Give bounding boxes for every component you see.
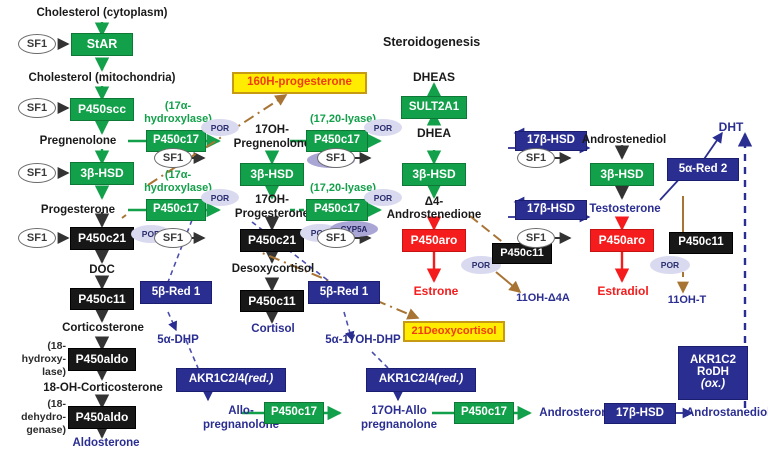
metabolite-estrone: Estrone: [404, 284, 468, 299]
enzyme-akr1c2-4-red-a-line2: (red.): [244, 374, 273, 386]
cofactor-sf1-p450c21-a: SF1: [18, 228, 56, 248]
enzyme-p450scc[interactable]: P450scc: [70, 98, 134, 121]
cofactor-sf1-3bhsd-d: SF1: [517, 148, 555, 168]
metabolite-dheas: DHEAS: [400, 70, 468, 85]
metabolite-cholesterol-mitochondria: Cholesterol (mitochondria): [14, 71, 190, 86]
metabolite-desoxycortisol: Desoxycortisol: [218, 263, 328, 277]
cofactor-sf1-star: SF1: [18, 34, 56, 54]
enzyme-3b-hsd-c[interactable]: 3β-HSD: [402, 163, 466, 186]
cofactor-sf1-3bhsd-c: SF1: [317, 148, 355, 168]
metabolite-androstenedione-line1: Δ4-: [410, 196, 458, 210]
metabolite-androstenedione-line2: Androstenedione: [378, 209, 490, 223]
metabolite-11oh-t: 11OH-T: [652, 294, 722, 308]
enzyme-p450c11-b[interactable]: P450c11: [240, 290, 304, 312]
enzyme-p450c21-b[interactable]: P450c21: [240, 229, 304, 252]
page-title: Steroidogenesis: [383, 34, 493, 50]
metabolite-testosterone: Testosterone: [578, 202, 672, 217]
metabolite-dht: DHT: [710, 120, 752, 135]
activity-18-hydroxylase-line2: hydroxy-: [10, 353, 66, 366]
enzyme-p450c17-hydroxylase-b[interactable]: P450c17: [146, 199, 206, 221]
activity-18-hydroxylase-line3: lase): [18, 366, 66, 379]
enzyme-akr1c2-4-red-a[interactable]: AKR1C2/4 (red.): [176, 368, 286, 392]
cofactor-sf1-p450c21-b: SF1: [154, 228, 192, 248]
metabolite-androstanediol: Androstanediol: [686, 406, 768, 421]
enzyme-17b-hsd-b[interactable]: 17β-HSD: [515, 200, 587, 220]
enzyme-star[interactable]: StAR: [71, 33, 133, 56]
activity-18-dehydrogenase-line1: (18-: [18, 398, 66, 411]
enzyme-sult2a1[interactable]: SULT2A1: [401, 96, 467, 119]
metabolite-17oh-allopregnanolone-line1: 17OH-Allo: [340, 405, 458, 419]
enzyme-3b-hsd-d[interactable]: 3β-HSD: [590, 163, 654, 186]
enzyme-p450aldo-a[interactable]: P450aldo: [68, 348, 136, 371]
metabolite-17oh-allopregnanolone-line2: pregnanolone: [338, 419, 460, 433]
cofactor-por-p450c17-lyase-a: POR: [364, 119, 402, 136]
metabolite-progesterone: Progesterone: [28, 203, 128, 218]
cofactor-por-p450c17-lyase-b: POR: [364, 189, 402, 206]
enzyme-p450c17-allo-a[interactable]: P450c17: [264, 402, 324, 424]
enzyme-p450c11-a[interactable]: P450c11: [70, 288, 134, 310]
activity-17a-hydroxylase-a-line1: (17α-: [148, 100, 208, 114]
metabolite-estradiol: Estradiol: [588, 284, 658, 299]
enzyme-akr1c2-rodh[interactable]: AKR1C2 RoDH (ox.): [678, 346, 748, 400]
enzyme-akr1c2-4-red-b-line1: AKR1C2/4: [379, 374, 435, 386]
metabolite-cholesterol-cytoplasm: Cholesterol (cytoplasm): [22, 6, 182, 21]
activity-18-dehydrogenase-line3: genase): [10, 424, 66, 437]
enzyme-5b-red-1-b[interactable]: 5β-Red 1: [308, 281, 380, 304]
cofactor-por-p450aro-b: POR: [650, 256, 690, 274]
metabolite-pregnenolone: Pregnenolone: [28, 134, 128, 149]
metabolite-cortisol: Cortisol: [240, 323, 306, 337]
enzyme-3b-hsd-a[interactable]: 3β-HSD: [70, 162, 134, 185]
enzyme-17b-hsd-c[interactable]: 17β-HSD: [604, 403, 676, 424]
activity-18-hydroxylase-line1: (18-: [18, 340, 66, 353]
enzyme-akr1c2-rodh-line3: (ox.): [701, 379, 725, 391]
enzyme-p450aldo-b[interactable]: P450aldo: [68, 406, 136, 429]
activity-17a-hydroxylase-b-line1: (17α-: [148, 169, 208, 183]
metabolite-11oh-d4a: 11OH-Δ4A: [500, 292, 586, 306]
enzyme-p450c11-d[interactable]: P450c11: [669, 232, 733, 254]
enzyme-p450c17-lyase-b[interactable]: P450c17: [306, 199, 368, 221]
enzyme-5a-red-2[interactable]: 5α-Red 2: [667, 158, 739, 181]
metabolite-16oh-progesterone[interactable]: 160H-progesterone: [232, 72, 367, 94]
steroidogenesis-diagram: Steroidogenesis Cholesterol (cytoplasm) …: [0, 0, 768, 455]
enzyme-p450aro-b[interactable]: P450aro: [590, 229, 654, 252]
enzyme-akr1c2-4-red-b[interactable]: AKR1C2/4 (red.): [366, 368, 476, 392]
enzyme-akr1c2-4-red-a-line1: AKR1C2/4: [189, 374, 245, 386]
metabolite-dhea: DHEA: [406, 126, 462, 141]
metabolite-doc: DOC: [80, 264, 124, 278]
cofactor-sf1-3bhsd-a: SF1: [18, 163, 56, 183]
cofactor-sf1-p450scc: SF1: [18, 98, 56, 118]
metabolite-18oh-corticosterone: 18-OH-Corticosterone: [18, 382, 188, 396]
cofactor-sf1-3bhsd-b: SF1: [154, 148, 192, 168]
metabolite-5a-17oh-dhp: 5α-17OH-DHP: [306, 333, 420, 348]
enzyme-5b-red-1-a[interactable]: 5β-Red 1: [140, 281, 212, 304]
enzyme-p450c21-a[interactable]: P450c21: [70, 227, 134, 250]
enzyme-p450aro-a[interactable]: P450aro: [402, 229, 466, 252]
metabolite-androstenediol: Androstenediol: [570, 133, 678, 148]
metabolite-17oh-progesterone-line1: 17OH-: [232, 194, 312, 208]
metabolite-5a-dhp: 5α-DHP: [140, 333, 216, 348]
enzyme-akr1c2-4-red-b-line2: (red.): [434, 374, 463, 386]
enzyme-p450c17-allo-b[interactable]: P450c17: [454, 402, 514, 424]
metabolite-aldosterone: Aldosterone: [60, 437, 152, 451]
activity-18-dehydrogenase-line2: dehydro-: [6, 411, 66, 424]
cofactor-sf1-p450aro-b: SF1: [517, 228, 555, 248]
cofactor-sf1-p450aro-a: SF1: [317, 228, 355, 248]
